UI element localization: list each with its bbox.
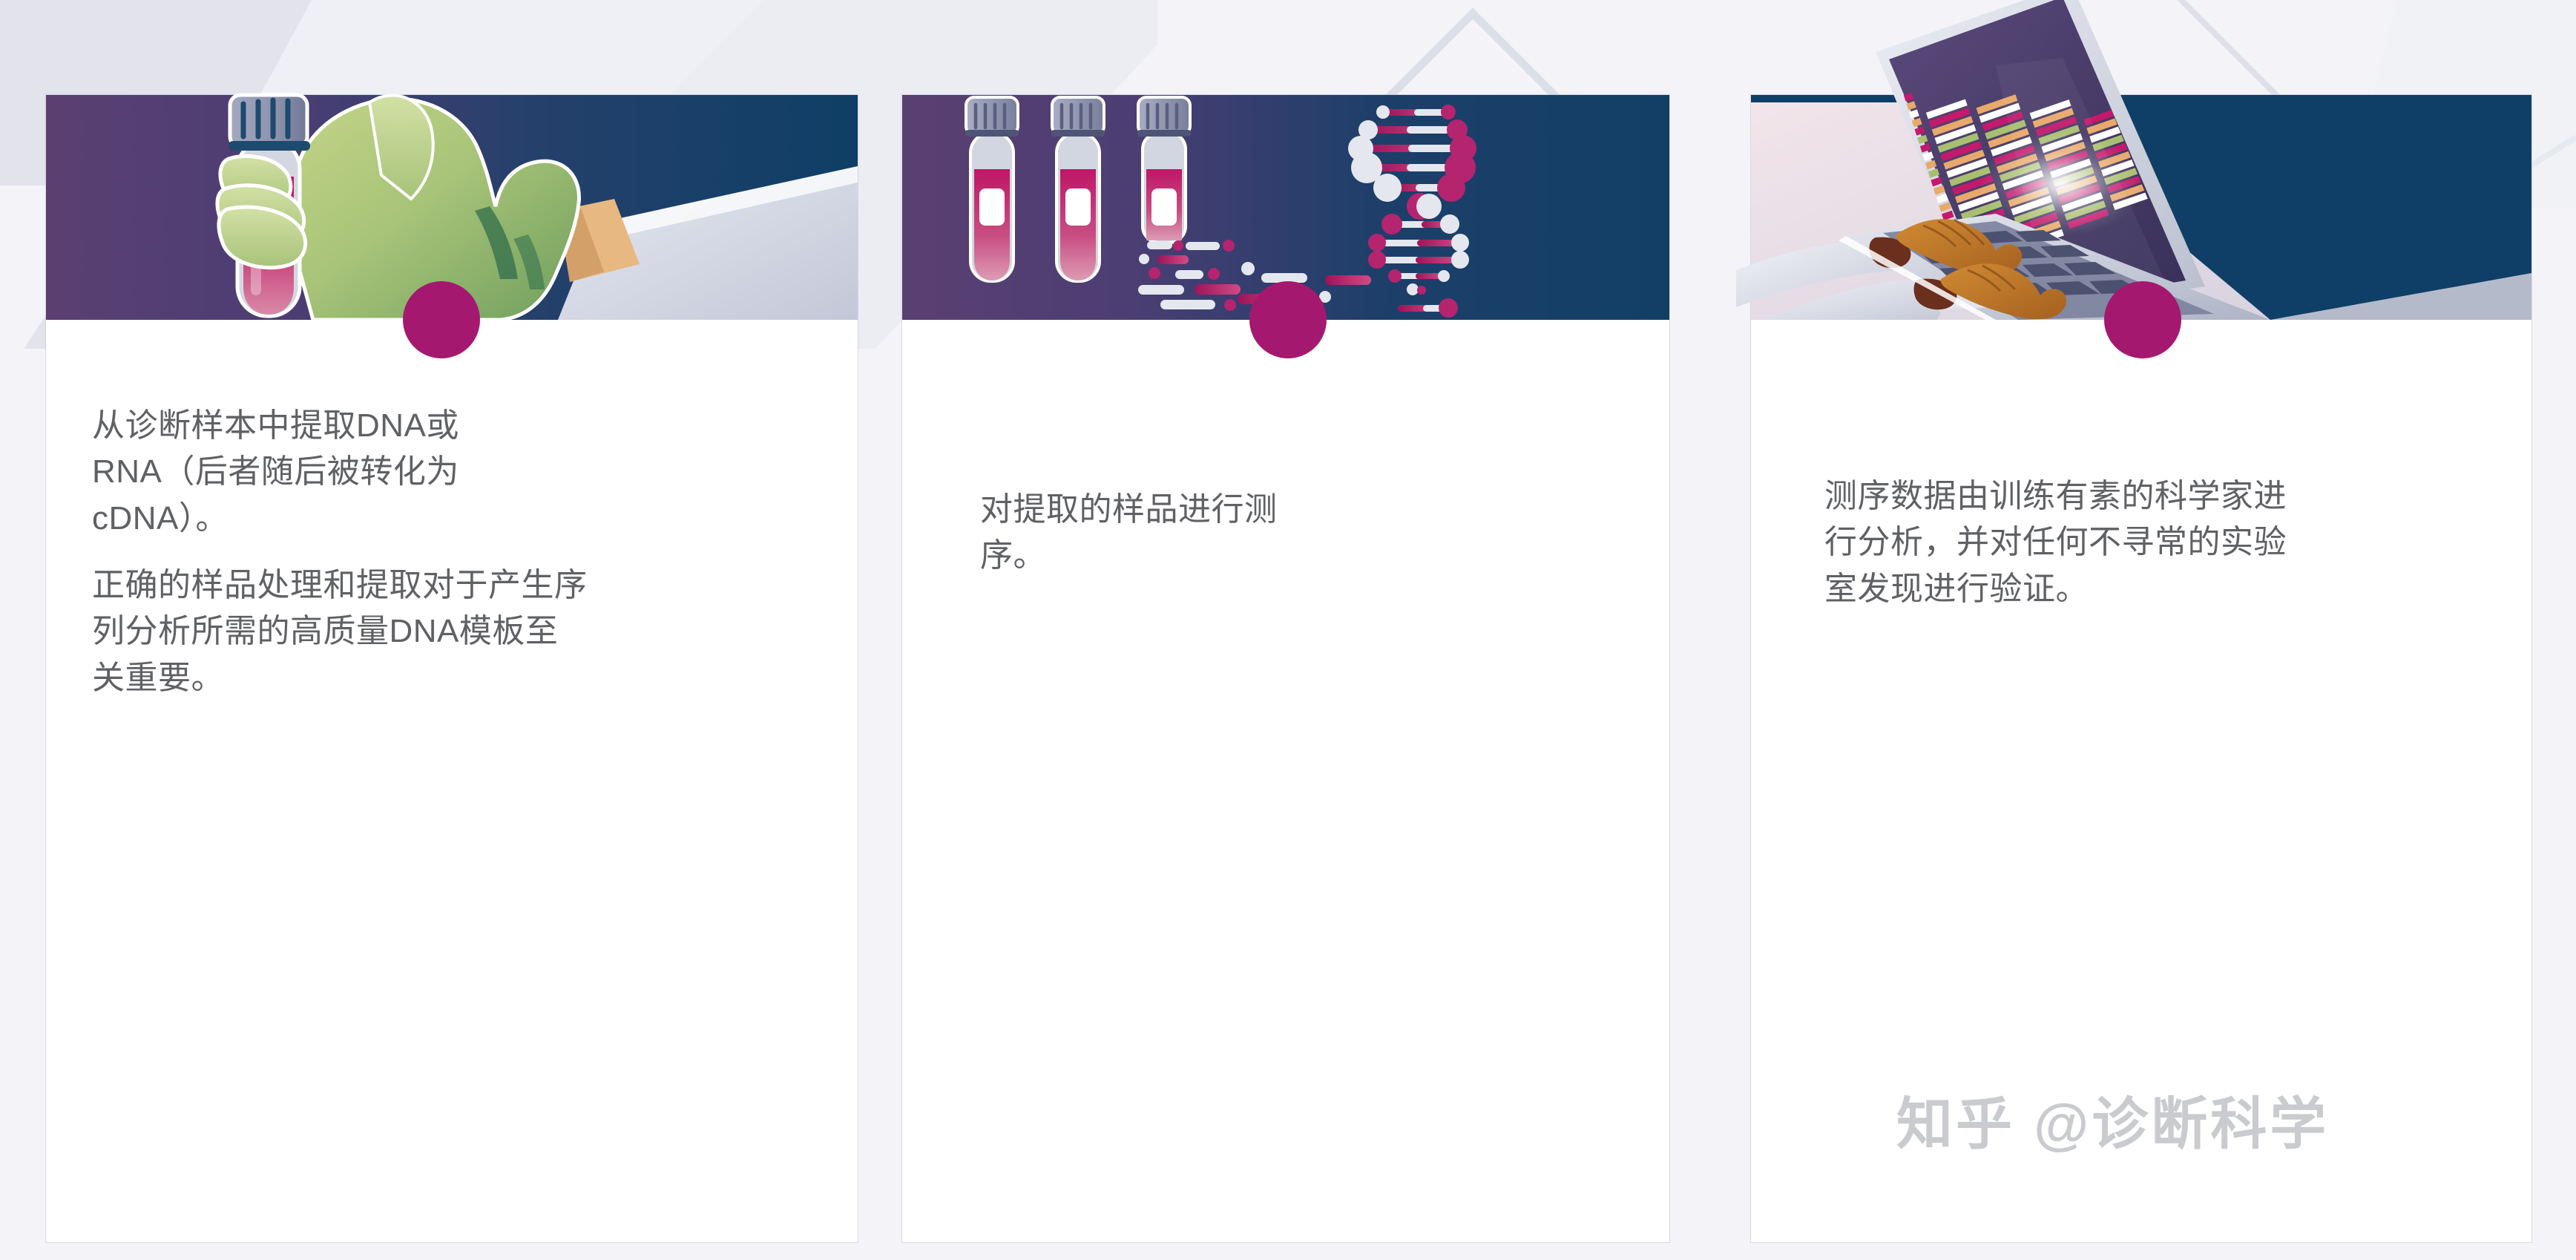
step-marker-dot — [2104, 281, 2181, 358]
card-extraction[interactable]: 从诊断样本中提取DNA或 RNA（后者随后被转化为 cDNA）。 正确的样品处理… — [46, 95, 858, 1242]
card-analysis[interactable]: 测序数据由训练有素的科学家进 行分析，并对任何不寻常的实验 室发现进行验证。 知… — [1751, 95, 2531, 1242]
card-grid: 从诊断样本中提取DNA或 RNA（后者随后被转化为 cDNA）。 正确的样品处理… — [0, 0, 2576, 1260]
card-text-primary: 对提取的样品进行测 序。 — [980, 487, 1588, 580]
step-marker-dot — [403, 281, 480, 358]
card-text-primary: 从诊断样本中提取DNA或 RNA（后者随后被转化为 cDNA）。 — [92, 403, 813, 542]
card-text-primary: 测序数据由训练有素的科学家进 行分析，并对任何不寻常的实验 室发现进行验证。 — [1824, 473, 2488, 612]
step-marker-dot — [1249, 281, 1327, 358]
card-text-secondary: 正确的样品处理和提取对于产生序 列分析所需的高质量DNA模板至 关重要。 — [92, 562, 825, 701]
watermark-attribution: 知乎 @诊断科学 — [1896, 1078, 2329, 1160]
card-sequencing[interactable]: 对提取的样品进行测 序。 — [902, 95, 1669, 1242]
